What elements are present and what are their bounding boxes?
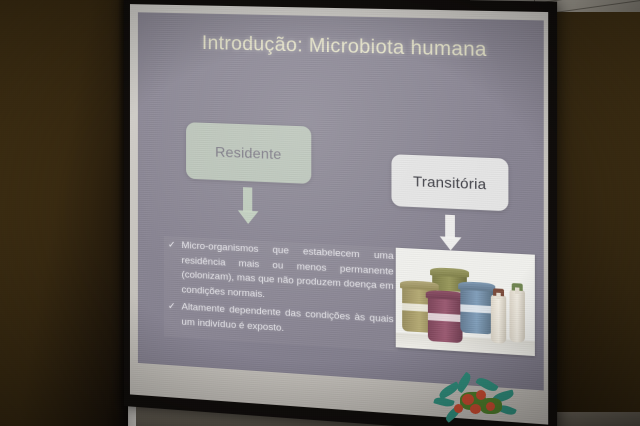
projection-screen-surface: Introdução: Microbiota humana Residente …	[130, 4, 548, 425]
box-residente-label: Residente	[215, 143, 282, 162]
arrow-head	[440, 236, 462, 251]
check-icon: ✓	[168, 238, 176, 298]
bottle-neck	[515, 287, 519, 294]
bullet-item: ✓ Micro-organismos que estabelecem uma r…	[168, 238, 394, 310]
flower	[486, 402, 495, 411]
bottle-green-cap	[510, 289, 525, 343]
floral-arrangement	[432, 370, 528, 426]
slide-body-text: ✓ Micro-organismos que estabelecem uma r…	[164, 236, 398, 352]
bottle-maroon-cap	[491, 294, 506, 343]
tub-lid	[400, 280, 439, 290]
box-residente: Residente	[186, 122, 311, 184]
tub-blue	[460, 287, 493, 335]
tub-lid	[430, 267, 469, 277]
left-wall-dark	[0, 0, 128, 426]
leaf	[433, 395, 454, 408]
arrow-head	[238, 210, 259, 224]
box-transitoria: Transitória	[391, 154, 508, 211]
probiotic-products-photo	[396, 248, 535, 356]
arrow-stem	[445, 215, 455, 238]
flower	[454, 404, 463, 413]
arrow-stem	[243, 187, 252, 212]
photo-inner	[396, 248, 535, 356]
bottle-neck	[496, 293, 500, 300]
flower	[476, 390, 486, 400]
tub-lid	[426, 290, 465, 301]
tub-band	[460, 304, 493, 313]
photo-scene: Introdução: Microbiota humana Residente …	[0, 0, 640, 426]
box-transitoria-label: Transitória	[413, 173, 486, 193]
projection-screen: Introdução: Microbiota humana Residente …	[124, 0, 557, 426]
flower	[470, 404, 481, 414]
bullet-text: Micro-organismos que estabelecem uma res…	[182, 239, 394, 311]
tub-lid	[458, 281, 495, 291]
check-icon: ✓	[168, 299, 176, 329]
flower	[462, 394, 474, 405]
presentation-slide: Introdução: Microbiota humana Residente …	[138, 12, 544, 390]
slide-title: Introdução: Microbiota humana	[178, 29, 513, 65]
tub-purple	[428, 295, 463, 343]
tub-band	[428, 313, 463, 322]
